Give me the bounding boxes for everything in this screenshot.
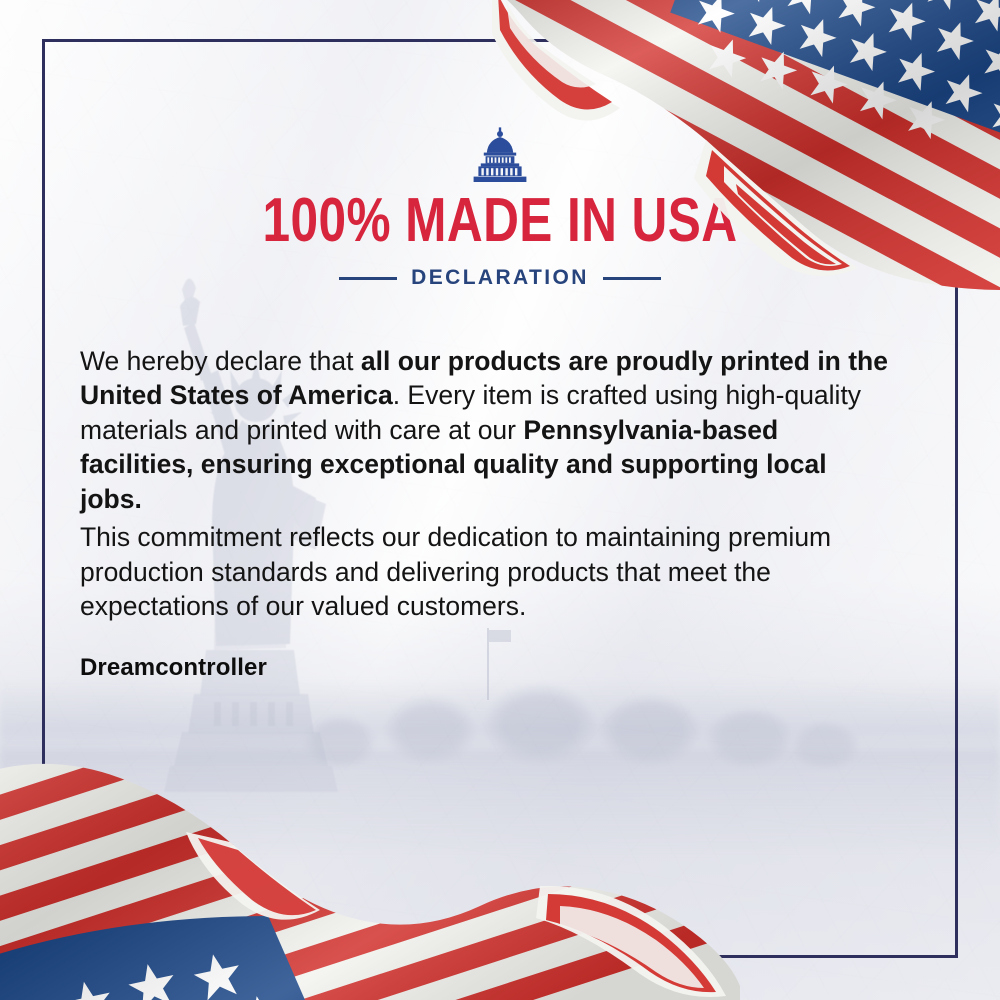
usa-flag-top-right [406, 0, 1000, 290]
subtitle-dash-left [339, 277, 397, 280]
signature-brand-name: Dreamcontroller [80, 654, 267, 682]
made-in-usa-declaration-page: 100% MADE IN USA DECLARATION We hereby d… [0, 0, 1000, 1000]
declaration-paragraph-2: This commitment reflects our dedication … [80, 520, 892, 623]
declaration-body: We hereby declare that all our products … [80, 344, 892, 624]
declaration-paragraph-1: We hereby declare that all our products … [80, 344, 892, 516]
plain-text: We hereby declare that [80, 346, 361, 376]
usa-flag-bottom-left [0, 734, 740, 1000]
